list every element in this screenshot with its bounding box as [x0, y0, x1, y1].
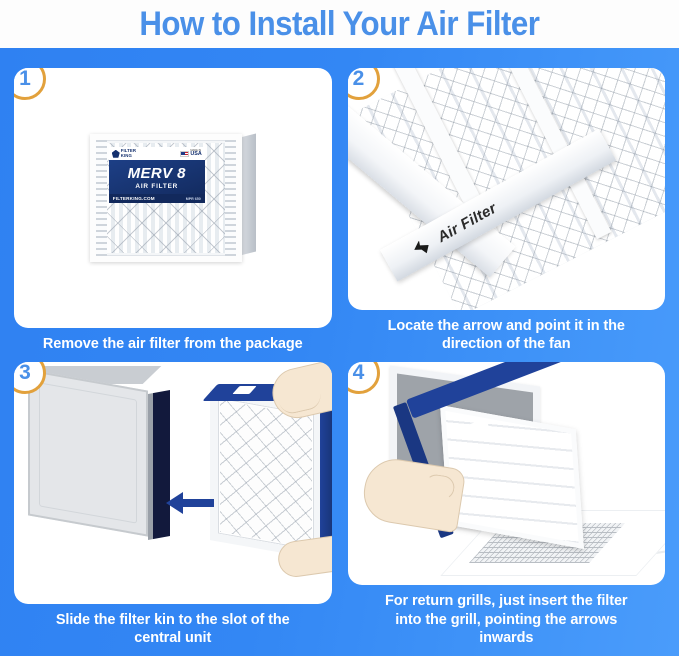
label-subtitle: AIR FILTER — [135, 183, 178, 190]
step-3-caption-line-1: Slide the filter kin to the slot of the — [20, 611, 326, 630]
label-top-row: FILTER KING MADE IN USA — [109, 147, 205, 160]
step-3-illustration — [14, 362, 332, 604]
airflow-arrow-icon — [411, 237, 431, 257]
step-2-card: 2 Air Filter — [348, 68, 666, 310]
step-panel-3: 3 — [14, 362, 332, 648]
hand-inserting-filter — [359, 455, 466, 534]
insert-direction-arrow-icon — [166, 490, 214, 516]
page-title: How to Install Your Air Filter — [140, 5, 540, 44]
step-4-card: 4 — [348, 362, 666, 585]
filter-product-label: FILTER KING MADE IN USA — [109, 147, 205, 203]
poster-header: How to Install Your Air Filter — [0, 0, 679, 48]
label-footer: FILTERKING.COM MPR 650 — [109, 194, 205, 203]
air-filter-product-photo: FILTER KING MADE IN USA — [90, 134, 256, 262]
step-2-illustration: Air Filter — [348, 68, 666, 310]
step-2-caption-line-2: direction of the fan — [354, 335, 660, 354]
brand-text: FILTER KING — [121, 149, 136, 158]
merv-rating: MERV 8 — [128, 166, 186, 181]
central-unit-body — [28, 369, 148, 536]
website-text: FILTERKING.COM — [113, 196, 155, 201]
step-1-illustration: FILTER KING MADE IN USA — [14, 68, 332, 328]
made-in-usa-mark: MADE IN USA — [180, 150, 202, 158]
filter-front-face: FILTER KING MADE IN USA — [90, 134, 242, 262]
mpr-rating: MPR 650 — [186, 197, 201, 201]
step-1-caption: Remove the air filter from the package — [14, 328, 332, 354]
step-3-caption: Slide the filter kin to the slot of the … — [14, 604, 332, 648]
label-main-block: MERV 8 AIR FILTER FILTERKING.COM MPR 650 — [109, 160, 205, 203]
central-unit-slot — [148, 390, 170, 540]
filter-pleats-right — [225, 140, 236, 256]
country-label: USA — [190, 152, 201, 157]
step-4-caption-line-1: For return grills, just insert the filte… — [354, 592, 660, 611]
step-panel-1: 1 — [14, 68, 332, 354]
step-4-caption-line-2: into the grill, pointing the arrows — [354, 611, 660, 630]
step-panel-2: 2 Air Filter Locate the arrow and point … — [348, 68, 666, 354]
step-3-caption-line-2: central unit — [20, 629, 326, 648]
filter-pleats-left — [96, 140, 107, 256]
crown-icon — [112, 150, 120, 158]
step-4-caption-line-3: inwards — [354, 629, 660, 648]
steps-grid: 1 — [0, 48, 679, 656]
step-1-card: 1 — [14, 68, 332, 328]
made-in-usa-text: MADE IN USA — [190, 150, 201, 158]
step-4-caption: For return grills, just insert the filte… — [348, 585, 666, 648]
filter-king-logo: FILTER KING — [112, 149, 136, 158]
step-2-caption: Locate the arrow and point it in the dir… — [348, 310, 666, 354]
filter-mesh-3 — [220, 400, 312, 548]
infographic-poster: How to Install Your Air Filter 1 — [0, 0, 679, 656]
usa-flag-icon — [180, 151, 189, 157]
step-3-card: 3 — [14, 362, 332, 604]
step-panel-4: 4 For return grills, jus — [348, 362, 666, 648]
step-4-illustration — [348, 362, 666, 585]
step-2-caption-line-1: Locate the arrow and point it in the — [354, 317, 660, 336]
brand-line-2: KING — [121, 153, 132, 158]
filter-side-3 — [320, 397, 332, 552]
